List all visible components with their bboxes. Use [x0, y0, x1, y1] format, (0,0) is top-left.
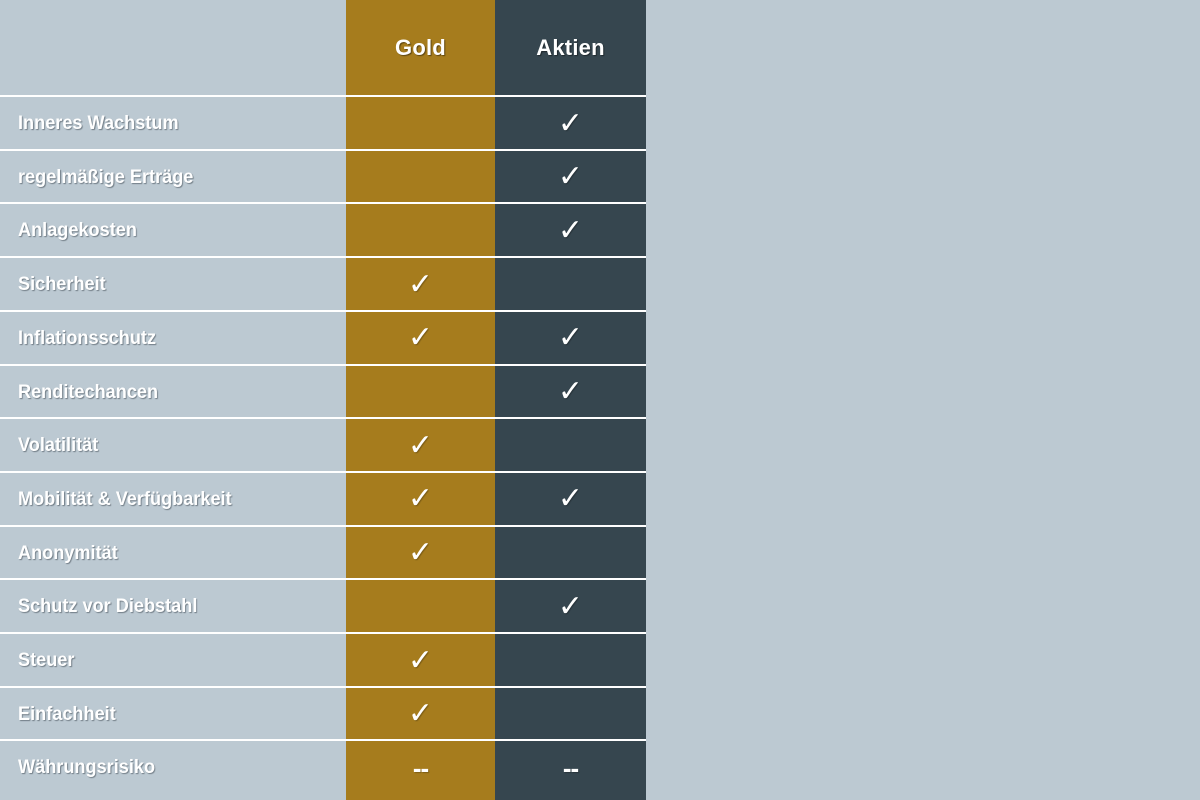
stocks-cell: ✓: [495, 204, 646, 257]
row-label: Inflationsschutz: [18, 312, 316, 365]
table-row: Mobilität & Verfügbarkeit✓✓: [0, 471, 646, 526]
right-panel: Das Battle!: [646, 0, 1200, 800]
table-row: Anlagekosten✓: [0, 202, 646, 257]
gold-cell: ✓: [346, 634, 495, 687]
stocks-cell: [495, 527, 646, 580]
row-label: Renditechancen: [18, 366, 316, 419]
table-row: Steuer✓: [0, 632, 646, 687]
gold-cell: ✓: [346, 258, 495, 311]
table-row: Sicherheit✓: [0, 256, 646, 311]
gold-cell: [346, 204, 495, 257]
table-row: Schutz vor Diebstahl✓: [0, 578, 646, 633]
gold-cell: [346, 151, 495, 204]
stocks-cell: ✓: [495, 312, 646, 365]
row-label: Einfachheit: [18, 688, 316, 741]
gold-cell: ✓: [346, 688, 495, 741]
row-label: Schutz vor Diebstahl: [18, 580, 316, 633]
table-row: Anonymität✓: [0, 525, 646, 580]
row-label: Inneres Wachstum: [18, 97, 316, 150]
gold-cell: ✓: [346, 527, 495, 580]
stocks-cell: ✓: [495, 366, 646, 419]
table-row: Inneres Wachstum✓: [0, 95, 646, 150]
stocks-cell: --: [495, 741, 646, 794]
row-label: Mobilität & Verfügbarkeit: [18, 473, 316, 526]
table-body: Inneres Wachstum✓regelmäßige Erträge✓Anl…: [0, 0, 646, 800]
table-row: Volatilität✓: [0, 417, 646, 472]
gold-cell: [346, 366, 495, 419]
stocks-cell: ✓: [495, 473, 646, 526]
infographic-canvas: Gold Aktien Inneres Wachstum✓regelmäßige…: [0, 0, 1200, 800]
table-row: regelmäßige Erträge✓: [0, 149, 646, 204]
stocks-cell: [495, 419, 646, 472]
gold-cell: [346, 580, 495, 633]
gold-cell: ✓: [346, 419, 495, 472]
stocks-cell: ✓: [495, 151, 646, 204]
table-row: Renditechancen✓: [0, 364, 646, 419]
table-row: Inflationsschutz✓✓: [0, 310, 646, 365]
stocks-cell: ✓: [495, 97, 646, 150]
row-label: Anonymität: [18, 527, 316, 580]
gold-cell: ✓: [346, 312, 495, 365]
gold-cell: ✓: [346, 473, 495, 526]
row-label: Volatilität: [18, 419, 316, 472]
stocks-cell: [495, 258, 646, 311]
row-label: Steuer: [18, 634, 316, 687]
stocks-cell: [495, 688, 646, 741]
stocks-cell: [495, 634, 646, 687]
gold-cell: [346, 97, 495, 150]
gold-cell: --: [346, 741, 495, 794]
table-row: Währungsrisiko----: [0, 739, 646, 794]
row-label: Sicherheit: [18, 258, 316, 311]
row-label: regelmäßige Erträge: [18, 151, 316, 204]
row-label: Währungsrisiko: [18, 741, 316, 794]
table-row: Einfachheit✓: [0, 686, 646, 741]
comparison-table: Gold Aktien Inneres Wachstum✓regelmäßige…: [0, 0, 646, 800]
row-label: Anlagekosten: [18, 204, 316, 257]
stocks-cell: ✓: [495, 580, 646, 633]
